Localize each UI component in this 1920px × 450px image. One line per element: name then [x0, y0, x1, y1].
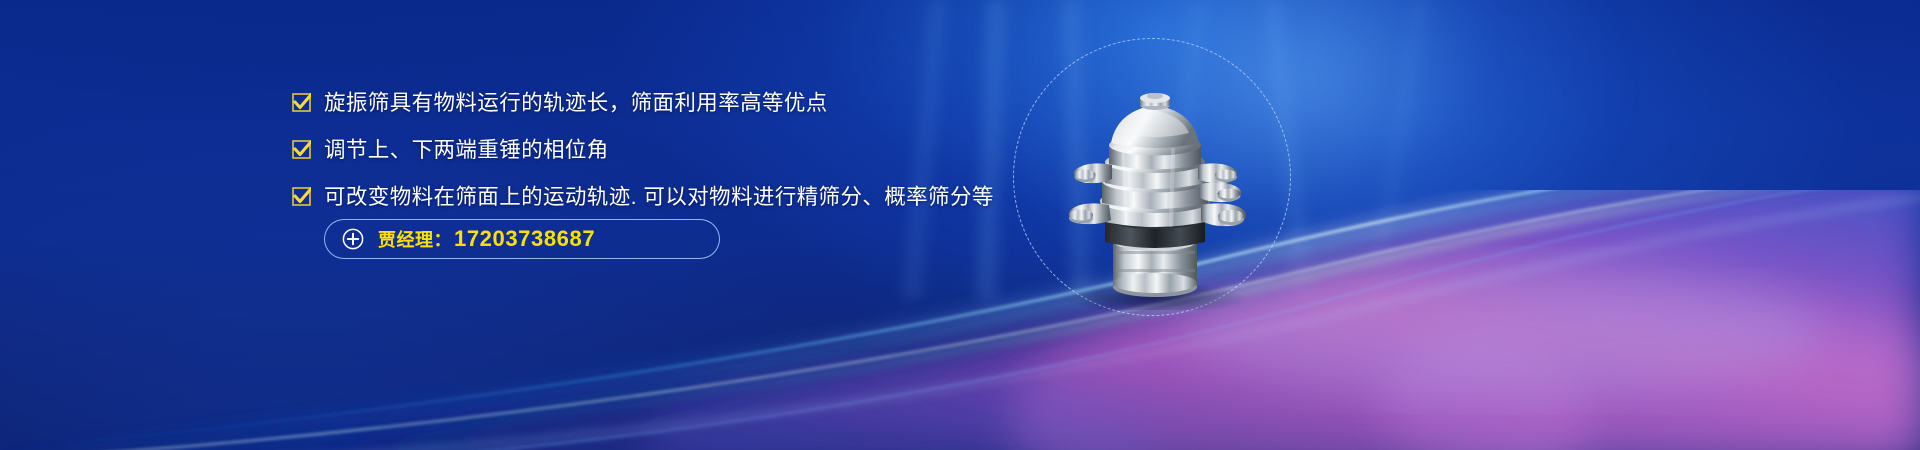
contact-name-label: 贾经理：: [378, 226, 452, 252]
list-item: 旋振筛具有物料运行的轨迹长，筛面利用率高等优点: [292, 88, 1052, 118]
checkbox-check-icon: [292, 187, 311, 206]
list-item-label: 旋振筛具有物料运行的轨迹长，筛面利用率高等优点: [324, 88, 828, 118]
feature-list: 旋振筛具有物料运行的轨迹长，筛面利用率高等优点 调节上、下两端重锤的相位角 可改…: [292, 88, 1052, 229]
list-item-label: 调节上、下两端重锤的相位角: [324, 135, 609, 165]
aurora-wave-decoration: [0, 190, 1920, 450]
promo-banner: 旋振筛具有物料运行的轨迹长，筛面利用率高等优点 调节上、下两端重锤的相位角 可改…: [0, 0, 1920, 450]
plus-circle-icon: [342, 228, 364, 250]
list-item-label: 可改变物料在筛面上的运动轨迹. 可以对物料进行精筛分、概率筛分等: [324, 182, 994, 212]
list-item: 调节上、下两端重锤的相位角: [292, 135, 1052, 165]
checkbox-check-icon: [292, 93, 311, 112]
list-item: 可改变物料在筛面上的运动轨迹. 可以对物料进行精筛分、概率筛分等: [292, 182, 1052, 212]
contact-phone-number: 17203738687: [454, 226, 595, 252]
contact-phone-button[interactable]: 贾经理： 17203738687: [324, 219, 720, 259]
checkbox-check-icon: [292, 140, 311, 159]
